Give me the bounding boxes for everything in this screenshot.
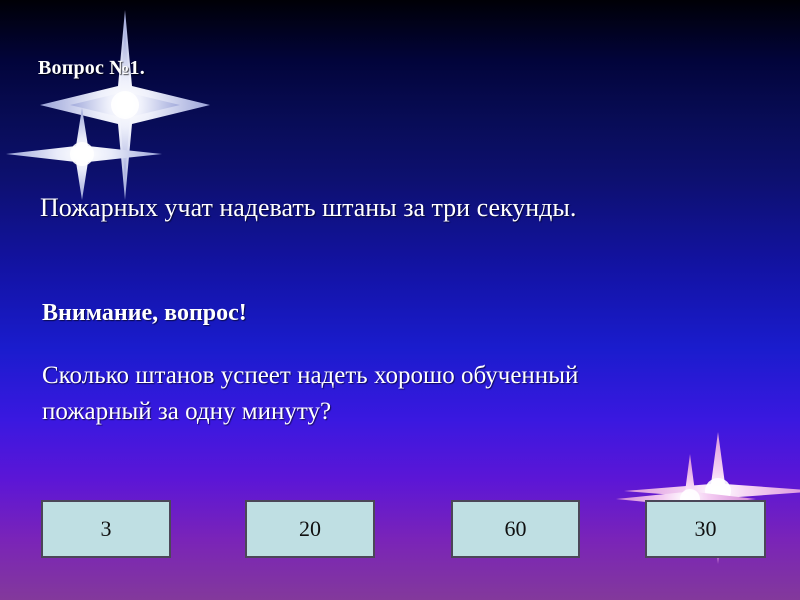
page-title: Вопрос №1. — [38, 57, 145, 80]
answer-button-4[interactable]: 30 — [645, 500, 766, 558]
star-blue-large-icon — [20, 8, 230, 203]
attention-heading: Внимание, вопрос! — [42, 300, 247, 327]
star-blue-small-icon — [4, 108, 164, 200]
answer-button-3[interactable]: 60 — [451, 500, 580, 558]
answer-button-1[interactable]: 3 — [41, 500, 171, 558]
statement-text: Пожарных учат надевать штаны за три секу… — [40, 190, 660, 225]
answer-button-2[interactable]: 20 — [245, 500, 375, 558]
slide-canvas: Вопрос №1. Пожарных учат надевать штаны … — [0, 0, 800, 600]
question-text: Сколько штанов успеет надеть хорошо обуч… — [42, 358, 682, 431]
